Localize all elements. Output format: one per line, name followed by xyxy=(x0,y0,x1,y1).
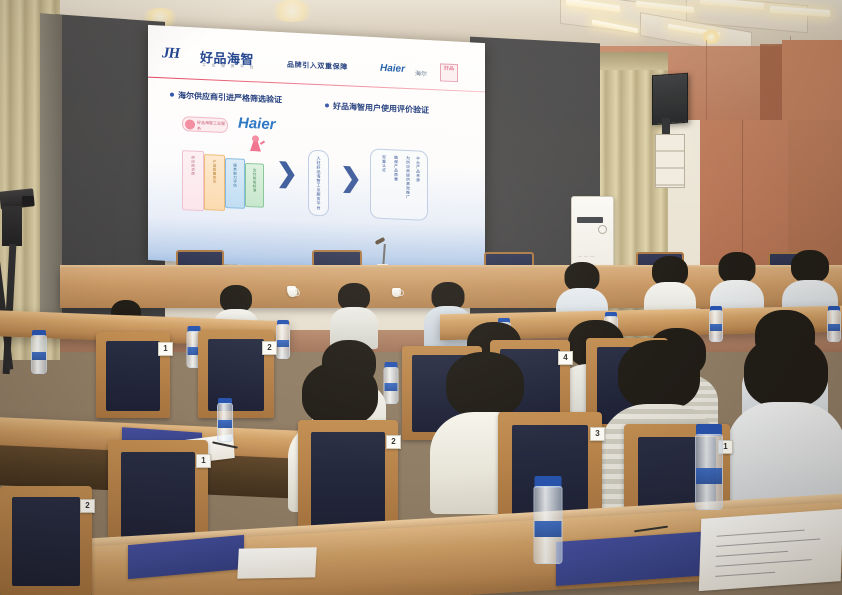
bottle-body xyxy=(695,434,723,510)
paper-sheet xyxy=(237,547,316,578)
chair-number-tag: 3 xyxy=(590,427,605,441)
bottle-label xyxy=(828,324,840,331)
haozhi-badge-text: 好品 xyxy=(441,64,457,73)
water-bottle xyxy=(218,398,232,440)
diagram-column-2-label: 产品质量体系 xyxy=(212,159,217,183)
ac-vent xyxy=(577,217,603,223)
ac-label: — — — xyxy=(578,253,595,258)
chair[interactable]: 2 xyxy=(0,486,92,595)
water-bottle xyxy=(696,424,722,508)
downlight xyxy=(268,0,316,22)
diagram-column-4: 交付验收标准 xyxy=(245,163,264,208)
badge-circle-icon xyxy=(185,119,195,129)
chair-pad xyxy=(311,432,385,532)
slide-bullet-2: 好品海智用户使用评价验证 xyxy=(325,100,429,116)
bottle-label xyxy=(277,340,289,347)
jh-logo-mark: JH xyxy=(162,45,179,63)
water-bottle xyxy=(828,306,840,340)
diagram-badge: 好品海智工业服务 xyxy=(182,116,228,133)
attendee-head xyxy=(618,340,700,410)
haozhi-badge-icon: 好品 xyxy=(440,63,458,82)
diagram-step-3-line-3: 为供应商提供高效推广 xyxy=(405,156,411,199)
chair-number-tag: 2 xyxy=(386,435,401,449)
bottle-label xyxy=(32,352,46,360)
slide-title: 品牌引入双重保障 xyxy=(287,60,348,73)
handwriting-line xyxy=(717,530,805,537)
bottle-body xyxy=(276,324,290,359)
handwriting-line xyxy=(716,539,820,547)
handwriting-line xyxy=(716,559,812,567)
diagram-step-3-line-2: 确保产品质量 xyxy=(393,155,399,181)
chair-number-tag: 2 xyxy=(262,341,277,355)
mascot-arm xyxy=(260,140,265,144)
chair[interactable]: 1 xyxy=(96,332,170,418)
chair-number-tag: 1 xyxy=(158,342,173,356)
ac-logo-icon xyxy=(598,225,607,234)
diagram-step-3-line-4: 平台产品来源 xyxy=(415,156,421,182)
bottle-label xyxy=(218,420,232,428)
video-camera-body xyxy=(2,206,22,246)
haier-logo-cn: 海尔 xyxy=(415,68,427,78)
wall-column-left xyxy=(40,13,62,335)
diagram-step-3: 双重认证 确保产品质量 为供应商提供高效推广 平台产品来源 xyxy=(370,148,428,221)
chevron-right-icon-1: ❯ xyxy=(276,158,298,189)
attendee-head xyxy=(446,352,524,418)
jh-logo-subtitle: 工 业 服 务 平 台 xyxy=(202,62,256,70)
diagram-column-1: 供应商资质 xyxy=(182,150,204,211)
chevron-right-icon-2: ❯ xyxy=(340,163,362,194)
bottle-label xyxy=(696,468,722,484)
speaker-mount xyxy=(662,118,670,134)
haier-logo: Haier xyxy=(380,63,405,75)
slide-diagram: Haier 好品海智工业服务 供应商资质 产品质量体系 服务能力评估 交付验收标… xyxy=(162,109,479,268)
attendee-head xyxy=(302,362,378,426)
paper-sheet-handwritten xyxy=(699,509,842,591)
diagram-haier-logo: Haier xyxy=(238,115,276,134)
chair-number-tag: 1 xyxy=(196,454,211,468)
attendee-head xyxy=(791,250,829,283)
mascot-icon xyxy=(248,135,264,156)
slide-bullet-1: 海尔供应商引进严格筛选验证 xyxy=(170,90,282,106)
attendee xyxy=(726,336,842,520)
bottle-body xyxy=(533,486,562,564)
downlight xyxy=(700,30,722,44)
diagram-column-1-label: 供应商资质 xyxy=(191,155,196,175)
water-bottle xyxy=(277,320,289,357)
bottle-body xyxy=(217,403,233,442)
chair-number-tag: 2 xyxy=(80,499,95,513)
diagram-step-3-line-1: 双重认证 xyxy=(381,155,387,172)
water-bottle xyxy=(534,476,561,562)
diagram-column-3: 服务能力评估 xyxy=(225,158,245,209)
chair-pad xyxy=(106,341,161,412)
chair-number-tag: 4 xyxy=(558,351,573,365)
diagram-step-2-label: 入驻好品海智工业服务平台 xyxy=(316,156,322,210)
wall-speaker xyxy=(652,73,688,126)
handwriting-line xyxy=(716,551,788,557)
bottle-body xyxy=(31,335,47,374)
teacup xyxy=(392,288,401,297)
diagram-column-4-label: 交付验收标准 xyxy=(252,168,257,192)
handwriting-line xyxy=(715,572,775,577)
wall-control-panels xyxy=(655,134,685,188)
chair-pad xyxy=(208,339,264,411)
slide-content: JH 好品海智 工 业 服 务 平 台 品牌引入双重保障 Haier 海尔 好品… xyxy=(148,27,485,277)
bottle-label xyxy=(534,521,561,538)
diagram-column-3-label: 服务能力评估 xyxy=(233,163,238,187)
camera-lens-icon xyxy=(22,196,34,206)
conference-room-photo: JH 好品海智 工 业 服 务 平 台 品牌引入双重保障 Haier 海尔 好品… xyxy=(0,0,842,595)
chair-pad xyxy=(12,497,80,586)
chair[interactable]: 2 xyxy=(198,330,274,418)
teacup xyxy=(288,288,297,297)
diagram-column-2: 产品质量体系 xyxy=(204,154,225,211)
badge-label: 好品海智工业服务 xyxy=(197,120,227,133)
curtain-rail xyxy=(596,52,668,70)
projection-screen: JH 好品海智 工 业 服 务 平 台 品牌引入双重保障 Haier 海尔 好品… xyxy=(148,25,485,278)
diagram-step-2: 入驻好品海智工业服务平台 xyxy=(308,150,329,217)
water-bottle xyxy=(32,330,46,372)
attendee-head xyxy=(744,336,828,408)
